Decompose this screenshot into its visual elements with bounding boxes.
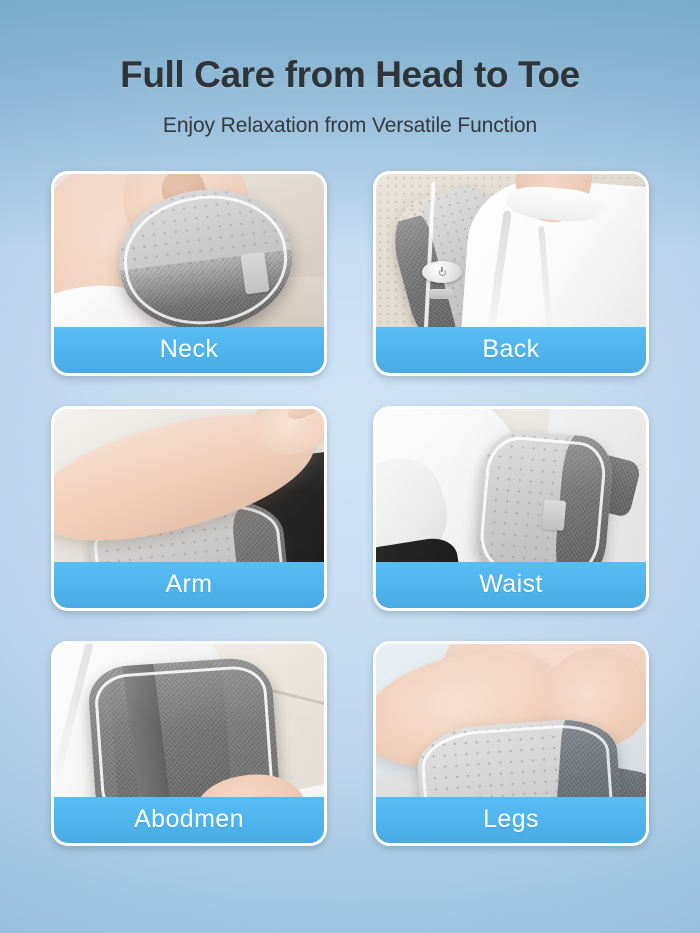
page-subtitle: Enjoy Relaxation from Versatile Function (0, 114, 700, 138)
card-label-text: Abodmen (134, 807, 244, 832)
card-label-text: Waist (479, 572, 543, 597)
card-label-text: Back (482, 337, 539, 362)
card-label-text: Legs (483, 807, 539, 832)
card-label-text: Arm (165, 572, 212, 597)
card-label-bar: Back (376, 327, 646, 373)
card-label-text: Neck (160, 337, 219, 362)
use-case-card-legs[interactable]: Legs (373, 641, 649, 846)
use-case-card-neck[interactable]: Neck (51, 171, 327, 376)
page-title: Full Care from Head to Toe (0, 56, 700, 95)
card-label-bar: Arm (54, 562, 324, 608)
card-label-bar: Neck (54, 327, 324, 373)
use-case-card-back[interactable]: Back (373, 171, 649, 376)
infographic-page: Full Care from Head to Toe Enjoy Relaxat… (0, 0, 700, 933)
header: Full Care from Head to Toe Enjoy Relaxat… (0, 0, 700, 138)
card-label-bar: Waist (376, 562, 646, 608)
use-case-card-abodmen[interactable]: Abodmen (51, 641, 327, 846)
use-case-grid: Neck (51, 171, 649, 846)
use-case-card-arm[interactable]: Arm (51, 406, 327, 611)
card-label-bar: Abodmen (54, 797, 324, 843)
card-label-bar: Legs (376, 797, 646, 843)
use-case-card-waist[interactable]: Waist (373, 406, 649, 611)
